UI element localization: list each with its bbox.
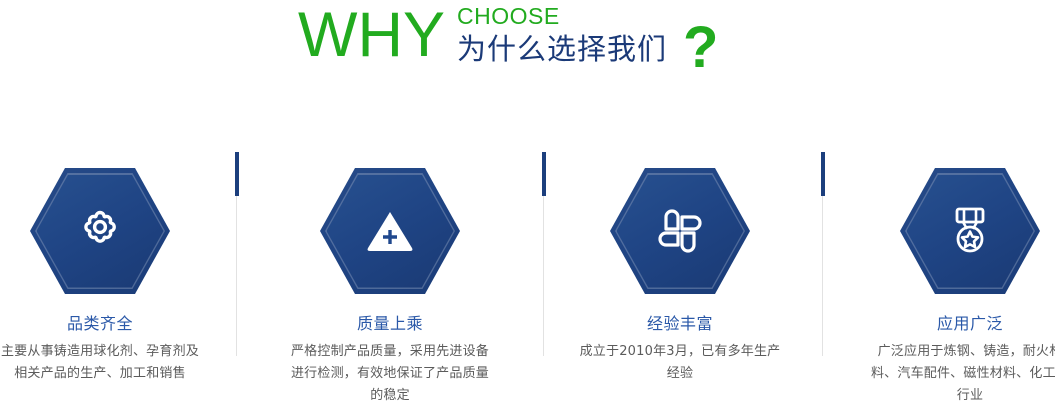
heading-chinese-subtitle: 为什么选择我们 bbox=[457, 31, 667, 67]
feature-card-title: 应用广泛 bbox=[838, 314, 1055, 334]
feature-card-product-range[interactable]: 品类齐全 主要从事铸造用球化剂、孕育剂及相关产品的生产、加工和销售 bbox=[0, 150, 232, 416]
gear-icon bbox=[74, 205, 126, 257]
feature-card-quality[interactable]: 质量上乘 严格控制产品质量，采用先进设备进行检测，有效地保证了产品质量的稳定 bbox=[258, 150, 522, 416]
feature-cards: 品类齐全 主要从事铸造用球化剂、孕育剂及相关产品的生产、加工和销售 质量上乘 严… bbox=[0, 150, 1055, 416]
feature-card-description: 广泛应用于炼钢、铸造，耐火材料、汽车配件、磁性材料、化工等行业 bbox=[838, 341, 1055, 407]
hexagon-badge bbox=[610, 168, 750, 294]
feature-card-description: 主要从事铸造用球化剂、孕育剂及相关产品的生产、加工和销售 bbox=[0, 341, 232, 385]
medal-icon bbox=[944, 205, 996, 257]
heading-text-stack: CHOOSE 为什么选择我们 bbox=[457, 4, 667, 67]
feature-card-description: 严格控制产品质量，采用先进设备进行检测，有效地保证了产品质量的稳定 bbox=[258, 341, 522, 407]
feature-card-applications[interactable]: 应用广泛 广泛应用于炼钢、铸造，耐火材料、汽车配件、磁性材料、化工等行业 bbox=[838, 150, 1055, 416]
feature-card-experience[interactable]: 经验丰富 成立于2010年3月，已有多年生产经验 bbox=[548, 150, 812, 416]
hexagon-badge bbox=[320, 168, 460, 294]
feature-card-title: 质量上乘 bbox=[258, 314, 522, 334]
heading-choose-word: CHOOSE bbox=[457, 4, 667, 29]
why-choose-us-section: WHY CHOOSE 为什么选择我们 ? bbox=[0, 0, 1055, 416]
heading-why-word: WHY bbox=[298, 2, 445, 68]
feature-card-title: 品类齐全 bbox=[0, 314, 232, 334]
clover-icon bbox=[654, 205, 706, 257]
feature-card-description: 成立于2010年3月，已有多年生产经验 bbox=[548, 341, 812, 385]
heading-inner: WHY CHOOSE 为什么选择我们 ? bbox=[298, 2, 718, 78]
triangle-plus-icon bbox=[364, 205, 416, 257]
hexagon-badge bbox=[900, 168, 1040, 294]
section-heading: WHY CHOOSE 为什么选择我们 ? bbox=[0, 0, 1055, 95]
heading-question-mark: ? bbox=[683, 18, 718, 78]
feature-card-title: 经验丰富 bbox=[548, 314, 812, 334]
hexagon-badge bbox=[30, 168, 170, 294]
